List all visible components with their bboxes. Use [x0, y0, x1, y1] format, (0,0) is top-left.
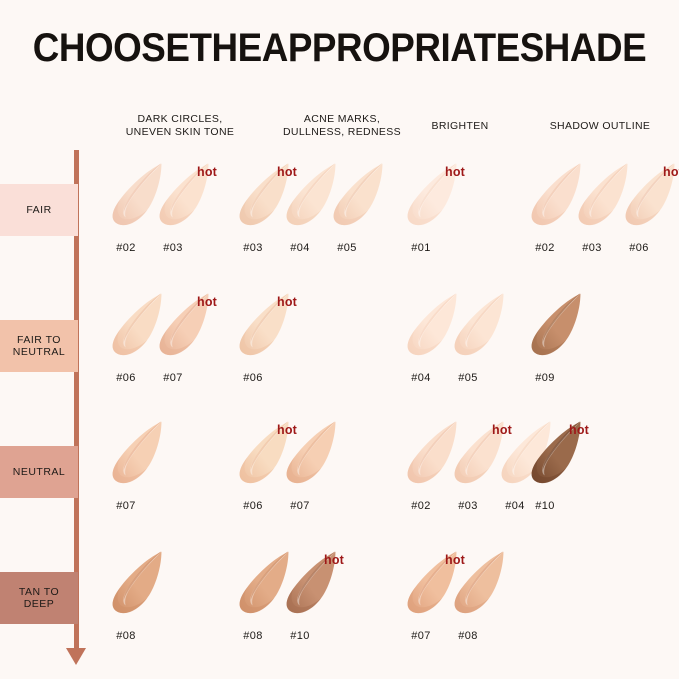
column-header-brighten: BRIGHTEN — [400, 120, 520, 133]
shade-code-label: #07 — [151, 372, 195, 384]
shade-code-label: #06 — [104, 372, 148, 384]
shade-code-label: #10 — [523, 500, 567, 512]
shade-code-label: #07 — [399, 630, 443, 642]
tone-band-neutral: NEUTRAL — [0, 446, 78, 498]
shade-code-label: #01 — [399, 242, 443, 254]
shade-swatch-07[interactable] — [279, 418, 341, 488]
shade-swatch-08[interactable] — [447, 548, 509, 618]
hot-badge: hot — [197, 295, 217, 309]
shade-code-label: #08 — [231, 630, 275, 642]
shade-code-label: #06 — [617, 242, 661, 254]
tone-band-tan-deep: TAN TO DEEP — [0, 572, 78, 624]
shade-swatch — [326, 160, 388, 226]
hot-badge: hot — [445, 165, 465, 179]
hot-badge: hot — [324, 553, 344, 567]
ladder-arrow-icon — [66, 648, 86, 665]
shade-swatch — [105, 548, 167, 614]
shade-code-label: #04 — [278, 242, 322, 254]
shade-code-label: #05 — [446, 372, 490, 384]
hot-badge: hot — [197, 165, 217, 179]
shade-swatch — [447, 290, 509, 356]
tone-ladder: FAIR FAIR TO NEUTRAL NEUTRAL TAN TO DEEP — [0, 150, 92, 670]
shade-swatch-09[interactable] — [524, 290, 586, 360]
shade-swatch — [105, 418, 167, 484]
infographic-page: CHOOSETHEAPPROPRIATESHADE DARK CIRCLES, … — [0, 0, 679, 679]
shade-code-label: #03 — [151, 242, 195, 254]
column-header-shadow-outline: SHADOW OUTLINE — [520, 120, 679, 133]
shade-code-label: #07 — [104, 500, 148, 512]
hot-badge: hot — [569, 423, 589, 437]
shade-code-label: #08 — [446, 630, 490, 642]
shade-code-label: #03 — [446, 500, 490, 512]
shade-swatch — [279, 418, 341, 484]
shade-swatch-05[interactable] — [326, 160, 388, 230]
shade-swatch — [524, 290, 586, 356]
shade-code-label: #07 — [278, 500, 322, 512]
shade-code-label: #02 — [523, 242, 567, 254]
shade-swatch-07[interactable] — [105, 418, 167, 488]
shade-code-label: #02 — [399, 500, 443, 512]
shade-code-label: #08 — [104, 630, 148, 642]
shade-code-label: #10 — [278, 630, 322, 642]
shade-code-label: #06 — [231, 372, 275, 384]
shade-swatch-05[interactable] — [447, 290, 509, 360]
shade-code-label: #02 — [104, 242, 148, 254]
shade-code-label: #03 — [570, 242, 614, 254]
tone-band-fair: FAIR — [0, 184, 78, 236]
hot-badge: hot — [277, 295, 297, 309]
shade-swatch — [447, 548, 509, 614]
tone-band-fair-neutral: FAIR TO NEUTRAL — [0, 320, 78, 372]
shade-code-label: #05 — [325, 242, 369, 254]
page-title: CHOOSETHEAPPROPRIATESHADE — [27, 26, 652, 71]
shade-code-label: #09 — [523, 372, 567, 384]
column-header-dark-circles: DARK CIRCLES, UNEVEN SKIN TONE — [95, 113, 265, 138]
shade-code-label: #03 — [231, 242, 275, 254]
hot-badge: hot — [663, 165, 679, 179]
shade-code-label: #04 — [399, 372, 443, 384]
shade-code-label: #06 — [231, 500, 275, 512]
shade-swatch-08[interactable] — [105, 548, 167, 618]
